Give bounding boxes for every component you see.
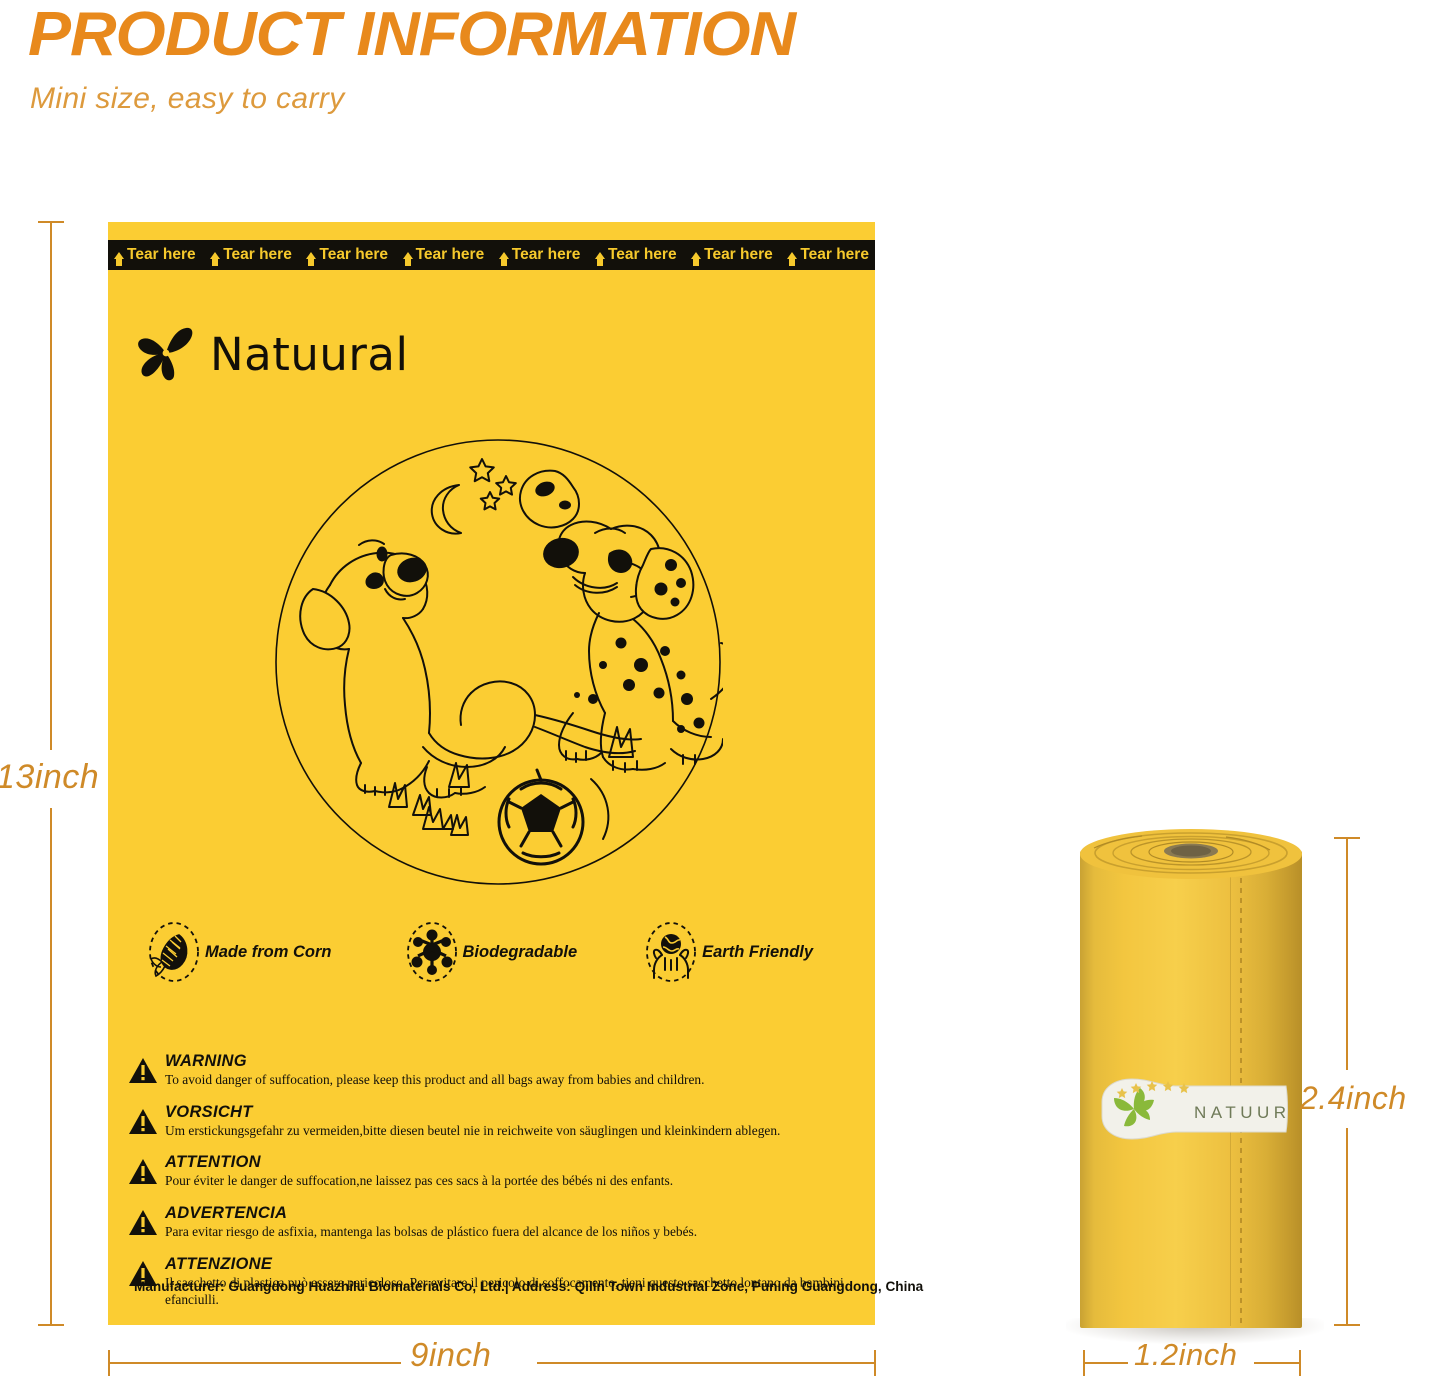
tear-here-label: Tear here (416, 246, 485, 264)
warning-body: Pour éviter le danger de suffocation,ne … (165, 1173, 673, 1190)
warning-heading: WARNING (165, 1052, 704, 1071)
dim-line-right (1254, 1362, 1300, 1364)
dim-line-upper (50, 222, 52, 750)
dim-cap-bottom (38, 1324, 64, 1326)
tear-here-label: Tear here (800, 246, 869, 264)
tear-here-strip: Tear here Tear here Tear here Tear here … (108, 240, 875, 270)
dimension-label-bag-height: 13inch (0, 758, 99, 797)
tear-here-item: Tear here (306, 246, 388, 264)
tear-here-item: Tear here (210, 246, 292, 264)
feature-earth-friendly: Earth Friendly (645, 922, 813, 982)
warning-triangle-icon (128, 1209, 158, 1236)
tear-here-label: Tear here (704, 246, 773, 264)
dimension-label-bag-width: 9inch (410, 1336, 491, 1374)
tear-here-item: Tear here (114, 246, 196, 264)
dim-line-right (537, 1362, 875, 1364)
warning-heading: ATTENTION (165, 1153, 673, 1172)
dim-line-lower (50, 808, 52, 1325)
up-arrow-icon (595, 252, 605, 259)
molecule-icon (406, 922, 458, 982)
tear-here-label: Tear here (512, 246, 581, 264)
warning-triangle-icon (128, 1057, 158, 1084)
corn-icon (148, 922, 200, 982)
tear-here-label: Tear here (319, 246, 388, 264)
roll-label-text: NATUUR (1194, 1103, 1290, 1122)
feature-label: Earth Friendly (702, 943, 813, 962)
page-subtitle: Mini size, easy to carry (30, 82, 345, 116)
up-arrow-icon (306, 252, 316, 259)
tear-here-item: Tear here (499, 246, 581, 264)
up-arrow-icon (210, 252, 220, 259)
warning-heading: VORSICHT (165, 1103, 780, 1122)
up-arrow-icon (114, 252, 124, 259)
feature-made-from-corn: Made from Corn (148, 922, 332, 982)
hands-holding-earth-icon (645, 922, 697, 982)
warning-heading: ADVERTENCIA (165, 1204, 697, 1223)
feature-badges: Made from Corn (126, 922, 856, 982)
up-arrow-icon (691, 252, 701, 259)
product-bag: Tear here Tear here Tear here Tear here … (108, 222, 875, 1325)
dim-line-lower (1346, 1128, 1348, 1325)
warning-triangle-icon (128, 1108, 158, 1135)
warning-heading: ATTENZIONE (165, 1255, 868, 1274)
warning-row: ATTENTION Pour éviter le danger de suffo… (128, 1153, 868, 1190)
warning-body: Para evitar riesgo de asfixia, mantenga … (165, 1224, 697, 1241)
brand-name: Natuural (210, 328, 409, 381)
product-roll: NATUUR (1080, 828, 1302, 1328)
manufacturer-line: Manufacturer: Guangdong Huazhilu Biomate… (134, 1279, 923, 1294)
feature-label: Biodegradable (463, 943, 578, 962)
dim-cap-right (1299, 1350, 1301, 1376)
up-arrow-icon (403, 252, 413, 259)
dimension-label-roll-width: 1.2inch (1134, 1337, 1237, 1373)
feature-biodegradable: Biodegradable (406, 922, 578, 982)
dim-line-left (109, 1362, 401, 1364)
tear-here-item: Tear here (595, 246, 677, 264)
tear-here-label: Tear here (223, 246, 292, 264)
dim-cap-right (874, 1350, 876, 1376)
warning-triangle-icon (128, 1158, 158, 1185)
two-puppies-circle-illustration (273, 437, 723, 887)
up-arrow-icon (787, 252, 797, 259)
up-arrow-icon (499, 252, 509, 259)
warning-row: WARNING To avoid danger of suffocation, … (128, 1052, 868, 1089)
brand-lockup: Natuural (136, 326, 409, 382)
butterfly-leaf-logo-icon (136, 326, 196, 382)
dim-cap-bottom (1334, 1324, 1360, 1326)
tear-here-item: Tear here (403, 246, 485, 264)
warning-row: VORSICHT Um erstickungsgefahr zu vermeid… (128, 1103, 868, 1140)
dimension-label-roll-height: 2.4inch (1300, 1080, 1407, 1117)
dim-line-upper (1346, 838, 1348, 1070)
warning-row: ADVERTENCIA Para evitar riesgo de asfixi… (128, 1204, 868, 1241)
tear-here-label: Tear here (127, 246, 196, 264)
page-title: PRODUCT INFORMATION (28, 2, 795, 67)
tear-here-item: Tear here (787, 246, 869, 264)
roll-top-spiral (1080, 828, 1302, 880)
tear-here-item: Tear here (691, 246, 773, 264)
warning-body: Um erstickungsgefahr zu vermeiden,bitte … (165, 1123, 780, 1140)
dim-line-left (1084, 1362, 1128, 1364)
roll-label-sticker: NATUUR (1098, 1076, 1290, 1142)
tear-here-label: Tear here (608, 246, 677, 264)
warning-body: To avoid danger of suffocation, please k… (165, 1072, 704, 1089)
feature-label: Made from Corn (205, 943, 332, 962)
